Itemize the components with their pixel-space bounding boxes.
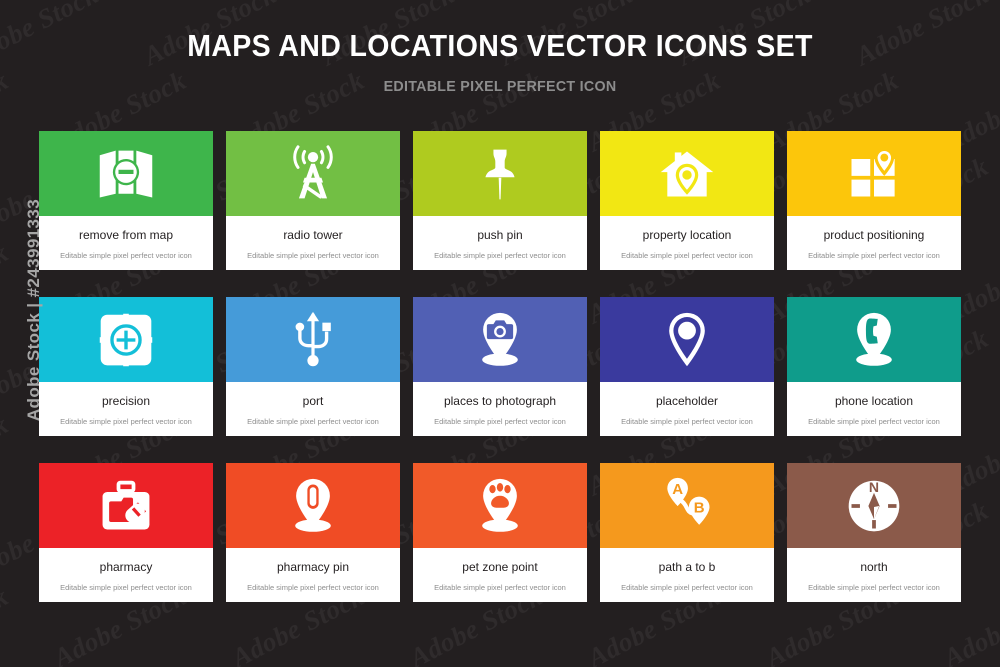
path-label-a: A: [672, 480, 683, 497]
icon-card[interactable]: property locationEditable simple pixel p…: [600, 131, 774, 270]
card-title: pet zone point: [462, 560, 537, 574]
phone-location-icon: [844, 310, 904, 370]
icon-card[interactable]: NnorthEditable simple pixel perfect vect…: [787, 463, 961, 602]
property-location-icon: [657, 144, 717, 204]
card-subtitle: Editable simple pixel perfect vector ico…: [434, 417, 566, 426]
card-subtitle: Editable simple pixel perfect vector ico…: [247, 417, 379, 426]
card-subtitle: Editable simple pixel perfect vector ico…: [247, 251, 379, 260]
remove-from-map-icon: [96, 144, 156, 204]
icon-card[interactable]: push pinEditable simple pixel perfect ve…: [413, 131, 587, 270]
icon-area: [226, 297, 400, 382]
card-label-area: property locationEditable simple pixel p…: [600, 216, 774, 270]
icon-area: [413, 297, 587, 382]
card-subtitle: Editable simple pixel perfect vector ico…: [60, 583, 192, 592]
card-subtitle: Editable simple pixel perfect vector ico…: [434, 251, 566, 260]
icon-area: [600, 131, 774, 216]
icon-area: [787, 297, 961, 382]
watermark-text: Adobe Stock: [0, 237, 13, 330]
icon-card[interactable]: portEditable simple pixel perfect vector…: [226, 297, 400, 436]
card-label-area: portEditable simple pixel perfect vector…: [226, 382, 400, 436]
card-label-area: remove from mapEditable simple pixel per…: [39, 216, 213, 270]
icon-card[interactable]: pharmacyEditable simple pixel perfect ve…: [39, 463, 213, 602]
card-title: phone location: [835, 394, 913, 408]
icon-card[interactable]: ABpath a to bEditable simple pixel perfe…: [600, 463, 774, 602]
card-subtitle: Editable simple pixel perfect vector ico…: [247, 583, 379, 592]
card-title: places to photograph: [444, 394, 556, 408]
watermark-text: Adobe Stock: [0, 409, 13, 502]
poster-header: Maps and locations vector icons set Edit…: [0, 0, 1000, 95]
places-to-photograph-icon: [470, 310, 530, 370]
card-label-area: placeholderEditable simple pixel perfect…: [600, 382, 774, 436]
card-subtitle: Editable simple pixel perfect vector ico…: [621, 583, 753, 592]
card-label-area: product positioningEditable simple pixel…: [787, 216, 961, 270]
icon-area: [226, 463, 400, 548]
icon-card[interactable]: product positioningEditable simple pixel…: [787, 131, 961, 270]
icon-card[interactable]: pet zone pointEditable simple pixel perf…: [413, 463, 587, 602]
card-title: property location: [643, 228, 732, 242]
card-title: product positioning: [824, 228, 925, 242]
icon-area: [39, 131, 213, 216]
icon-area: [226, 131, 400, 216]
icon-card[interactable]: remove from mapEditable simple pixel per…: [39, 131, 213, 270]
card-title: push pin: [477, 228, 522, 242]
card-label-area: pharmacy pinEditable simple pixel perfec…: [226, 548, 400, 602]
radio-tower-icon: [283, 144, 343, 204]
icon-area: N: [787, 463, 961, 548]
card-title: placeholder: [656, 394, 718, 408]
icon-area: [600, 297, 774, 382]
icon-card[interactable]: placeholderEditable simple pixel perfect…: [600, 297, 774, 436]
pet-zone-point-icon: [470, 476, 530, 536]
card-subtitle: Editable simple pixel perfect vector ico…: [808, 583, 940, 592]
icon-area: [413, 131, 587, 216]
path-a-to-b-icon: AB: [657, 476, 717, 536]
icon-card[interactable]: places to photographEditable simple pixe…: [413, 297, 587, 436]
card-label-area: radio towerEditable simple pixel perfect…: [226, 216, 400, 270]
card-label-area: places to photographEditable simple pixe…: [413, 382, 587, 436]
icon-card[interactable]: phone locationEditable simple pixel perf…: [787, 297, 961, 436]
card-title: north: [860, 560, 887, 574]
page-subtitle: Editable pixel perfect icon: [25, 78, 975, 95]
card-subtitle: Editable simple pixel perfect vector ico…: [621, 251, 753, 260]
page-title: Maps and locations vector icons set: [40, 28, 960, 64]
port-icon: [283, 310, 343, 370]
precision-icon: [96, 310, 156, 370]
card-title: remove from map: [79, 228, 173, 242]
card-subtitle: Editable simple pixel perfect vector ico…: [808, 251, 940, 260]
icon-area: [39, 463, 213, 548]
icon-area: [39, 297, 213, 382]
icon-card[interactable]: radio towerEditable simple pixel perfect…: [226, 131, 400, 270]
card-subtitle: Editable simple pixel perfect vector ico…: [60, 251, 192, 260]
compass-label-n: N: [869, 478, 879, 494]
card-title: pharmacy pin: [277, 560, 349, 574]
pharmacy-pin-icon: [283, 476, 343, 536]
icon-area: AB: [600, 463, 774, 548]
icon-area: [787, 131, 961, 216]
icon-card[interactable]: pharmacy pinEditable simple pixel perfec…: [226, 463, 400, 602]
card-label-area: northEditable simple pixel perfect vecto…: [787, 548, 961, 602]
product-positioning-icon: [844, 144, 904, 204]
placeholder-icon: [657, 310, 717, 370]
north-icon: N: [844, 476, 904, 536]
path-label-b: B: [694, 499, 705, 516]
card-title: precision: [102, 394, 150, 408]
card-label-area: push pinEditable simple pixel perfect ve…: [413, 216, 587, 270]
card-label-area: phone locationEditable simple pixel perf…: [787, 382, 961, 436]
pharmacy-icon: [96, 476, 156, 536]
push-pin-icon: [470, 144, 530, 204]
card-subtitle: Editable simple pixel perfect vector ico…: [808, 417, 940, 426]
card-subtitle: Editable simple pixel perfect vector ico…: [621, 417, 753, 426]
watermark-text: Adobe Stock: [0, 581, 13, 667]
adobe-stock-side-watermark: Adobe Stock | #243991333: [24, 190, 44, 430]
card-title: radio tower: [283, 228, 342, 242]
card-title: port: [303, 394, 324, 408]
card-subtitle: Editable simple pixel perfect vector ico…: [60, 417, 192, 426]
icon-area: [413, 463, 587, 548]
card-title: pharmacy: [100, 560, 153, 574]
card-title: path a to b: [659, 560, 716, 574]
poster-canvas: Adobe StockAdobe StockAdobe StockAdobe S…: [0, 0, 1000, 667]
card-label-area: pet zone pointEditable simple pixel perf…: [413, 548, 587, 602]
icon-card-grid: remove from mapEditable simple pixel per…: [39, 131, 961, 602]
card-label-area: precisionEditable simple pixel perfect v…: [39, 382, 213, 436]
card-subtitle: Editable simple pixel perfect vector ico…: [434, 583, 566, 592]
card-label-area: path a to bEditable simple pixel perfect…: [600, 548, 774, 602]
card-label-area: pharmacyEditable simple pixel perfect ve…: [39, 548, 213, 602]
icon-card[interactable]: precisionEditable simple pixel perfect v…: [39, 297, 213, 436]
